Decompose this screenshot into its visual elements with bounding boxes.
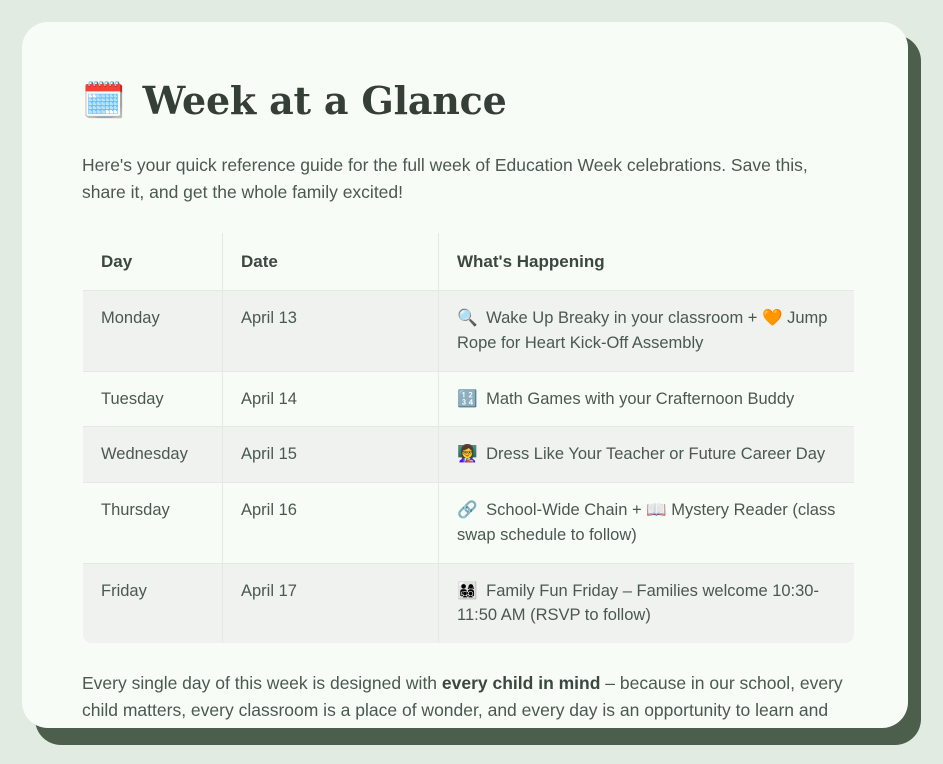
outro-lead: Every single day of this week is designe…	[82, 673, 442, 693]
weekly-schedule-table: Day Date What's Happening Monday April 1…	[82, 232, 855, 645]
column-header-day: Day	[83, 232, 223, 291]
cell-date: April 17	[223, 563, 439, 644]
column-header-what: What's Happening	[439, 232, 855, 291]
cell-what-text: Family Fun Friday – Families welcome 10:…	[457, 582, 819, 625]
table-body: Monday April 13 🔍 Wake Up Breaky in your…	[83, 291, 855, 644]
cell-date: April 16	[223, 483, 439, 564]
cell-day: Friday	[83, 563, 223, 644]
page-header: 🗓️ Week at a Glance	[82, 80, 848, 122]
intro-paragraph: Here's your quick reference guide for th…	[82, 152, 848, 206]
cell-day: Thursday	[83, 483, 223, 564]
woman-teacher-icon: 👩‍🏫	[457, 442, 478, 467]
table-row: Friday April 17 👨‍👩‍👧‍👦 Family Fun Frida…	[83, 563, 855, 644]
table-header-row: Day Date What's Happening	[83, 232, 855, 291]
column-header-date: Date	[223, 232, 439, 291]
page-root: 🗓️ Week at a Glance Here's your quick re…	[0, 0, 943, 764]
cell-what-text: Dress Like Your Teacher or Future Career…	[482, 445, 826, 463]
cell-date: April 14	[223, 371, 439, 427]
cell-what: 🔢 Math Games with your Crafternoon Buddy	[439, 371, 855, 427]
spiral-calendar-icon: 🗓️	[82, 83, 126, 118]
input-numbers-icon: 🔢	[457, 387, 478, 412]
outro-emphasis: every child in mind	[442, 673, 601, 693]
outro-paragraph: Every single day of this week is designe…	[82, 670, 848, 728]
page-title: Week at a Glance	[143, 80, 507, 122]
link-chain-icon: 🔗	[457, 498, 478, 523]
cell-day: Wednesday	[83, 427, 223, 483]
cell-what: 🔍 Wake Up Breaky in your classroom + 🧡 J…	[439, 291, 855, 372]
cell-what: 🔗 School-Wide Chain + 📖 Mystery Reader (…	[439, 483, 855, 564]
table-row: Monday April 13 🔍 Wake Up Breaky in your…	[83, 291, 855, 372]
cell-day: Tuesday	[83, 371, 223, 427]
cell-what-text: Wake Up Breaky in your classroom + 🧡 Jum…	[457, 309, 827, 352]
magnifying-glass-icon: 🔍	[457, 306, 478, 331]
cell-what: 👨‍👩‍👧‍👦 Family Fun Friday – Families wel…	[439, 563, 855, 644]
table-row: Thursday April 16 🔗 School-Wide Chain + …	[83, 483, 855, 564]
table-head: Day Date What's Happening	[83, 232, 855, 291]
cell-date: April 15	[223, 427, 439, 483]
cell-what-text: School-Wide Chain + 📖 Mystery Reader (cl…	[457, 501, 835, 544]
week-at-a-glance-card: 🗓️ Week at a Glance Here's your quick re…	[22, 22, 908, 728]
cell-what: 👩‍🏫 Dress Like Your Teacher or Future Ca…	[439, 427, 855, 483]
table-row: Wednesday April 15 👩‍🏫 Dress Like Your T…	[83, 427, 855, 483]
cell-day: Monday	[83, 291, 223, 372]
family-icon: 👨‍👩‍👧‍👦	[457, 579, 478, 604]
table-row: Tuesday April 14 🔢 Math Games with your …	[83, 371, 855, 427]
cell-what-text: Math Games with your Crafternoon Buddy	[482, 390, 795, 408]
cell-date: April 13	[223, 291, 439, 372]
